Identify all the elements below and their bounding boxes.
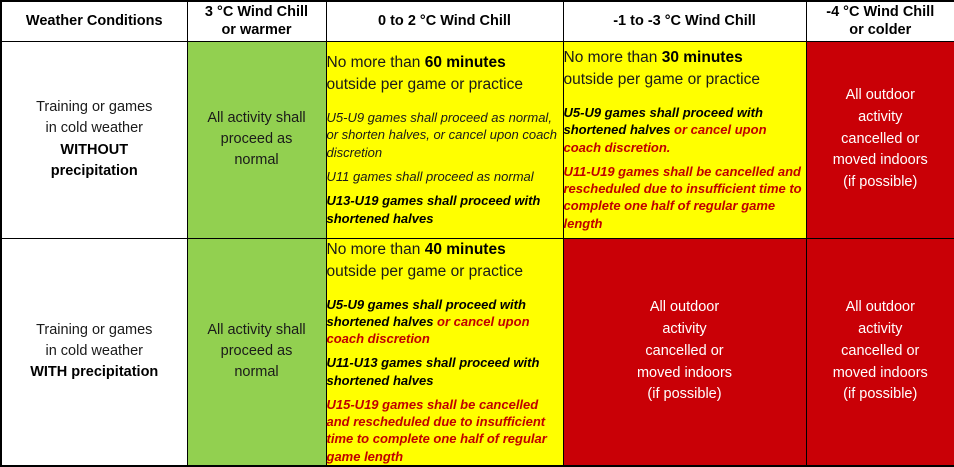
header-0-to-2c: 0 to 2 °C Wind Chill [326,1,563,41]
header-minus4c-line1: -4 °C Wind Chill [826,4,934,20]
header-3c-line2: or warmer [221,22,291,38]
red-line5: (if possible) [647,386,721,402]
condition-line3: WITHOUT [60,142,128,158]
red-line3: cancelled or [841,343,919,359]
red-line3: cancelled or [645,343,723,359]
red-line4: moved indoors [833,152,928,168]
cold-weather-policy-table: Weather Conditions 3 °C Wind Chill or wa… [0,0,954,467]
red-line2: activity [858,321,902,337]
headline-prefix: No more than [327,241,425,258]
time-limit-headline: No more than 40 minutes outside per game… [327,239,563,283]
note-u13-u19: U13-U19 games shall proceed with shorten… [327,192,563,227]
red-line2: activity [858,109,902,125]
condition-line1: Training or games [36,99,152,115]
cell-with-precip-minus4c-or-colder: All outdoor activity cancelled or moved … [806,238,954,466]
headline-prefix: No more than [564,49,662,66]
condition-line2: in cold weather [45,120,143,136]
red-line3: cancelled or [841,131,919,147]
red-line2: activity [662,321,706,337]
green-line1: All activity shall [207,110,305,126]
cell-with-precip-3c-or-warmer: All activity shall proceed as normal [187,238,326,466]
table-row-without-precipitation: Training or games in cold weather WITHOU… [1,41,954,238]
headline-suffix: outside per game or practice [327,263,523,280]
note-u11-u19: U11-U19 games shall be cancelled and res… [564,163,806,232]
header-minus1-to-minus3c: -1 to -3 °C Wind Chill [563,1,806,41]
headline-duration: 40 minutes [425,241,506,258]
condition-line3: WITH precipitation [30,364,158,380]
headline-duration: 30 minutes [662,49,743,66]
header-weather-conditions: Weather Conditions [1,1,187,41]
time-limit-headline: No more than 60 minutes outside per game… [327,52,563,96]
cell-with-precip-0-to-2c: No more than 40 minutes outside per game… [326,238,563,466]
condition-line4: precipitation [51,163,138,179]
age-group-notes: U5-U9 games shall proceed with shortened… [327,296,563,466]
green-line3: normal [234,152,278,168]
cell-without-precip-minus1-to-minus3c: No more than 30 minutes outside per game… [563,41,806,238]
red-line1: All outdoor [650,299,719,315]
condition-without-precipitation: Training or games in cold weather WITHOU… [1,41,187,238]
green-line2: proceed as [221,131,293,147]
note-u5-u9: U5-U9 games shall proceed as normal, or … [327,109,563,161]
table-header-row: Weather Conditions 3 °C Wind Chill or wa… [1,1,954,41]
age-group-notes: U5-U9 games shall proceed as normal, or … [327,109,563,227]
header-3c-line1: 3 °C Wind Chill [205,4,308,20]
red-line5: (if possible) [843,386,917,402]
header-minus4c-or-colder: -4 °C Wind Chill or colder [806,1,954,41]
header-3c-or-warmer: 3 °C Wind Chill or warmer [187,1,326,41]
green-line1: All activity shall [207,322,305,338]
green-line2: proceed as [221,343,293,359]
condition-line2: in cold weather [45,343,143,359]
note-u5-u9: U5-U9 games shall proceed with shortened… [564,104,806,156]
cell-without-precip-0-to-2c: No more than 60 minutes outside per game… [326,41,563,238]
header-minus4c-line2: or colder [849,22,911,38]
red-line1: All outdoor [846,299,915,315]
headline-prefix: No more than [327,54,425,71]
red-line1: All outdoor [846,87,915,103]
note-u11: U11 games shall proceed as normal [327,168,563,185]
headline-suffix: outside per game or practice [564,71,760,88]
cell-without-precip-3c-or-warmer: All activity shall proceed as normal [187,41,326,238]
cell-without-precip-minus4c-or-colder: All outdoor activity cancelled or moved … [806,41,954,238]
red-line5: (if possible) [843,174,917,190]
cell-with-precip-minus1-to-minus3c: All outdoor activity cancelled or moved … [563,238,806,466]
headline-duration: 60 minutes [425,54,506,71]
headline-suffix: outside per game or practice [327,76,523,93]
green-line3: normal [234,364,278,380]
table-row-with-precipitation: Training or games in cold weather WITH p… [1,238,954,466]
condition-line1: Training or games [36,322,152,338]
note-u15-u19: U15-U19 games shall be cancelled and res… [327,396,563,465]
red-line4: moved indoors [637,365,732,381]
note-u5-u9: U5-U9 games shall proceed with shortened… [327,296,563,348]
time-limit-headline: No more than 30 minutes outside per game… [564,47,806,91]
note-u11-u13: U11-U13 games shall proceed with shorten… [327,354,563,389]
age-group-notes: U5-U9 games shall proceed with shortened… [564,104,806,232]
red-line4: moved indoors [833,365,928,381]
condition-with-precipitation: Training or games in cold weather WITH p… [1,238,187,466]
